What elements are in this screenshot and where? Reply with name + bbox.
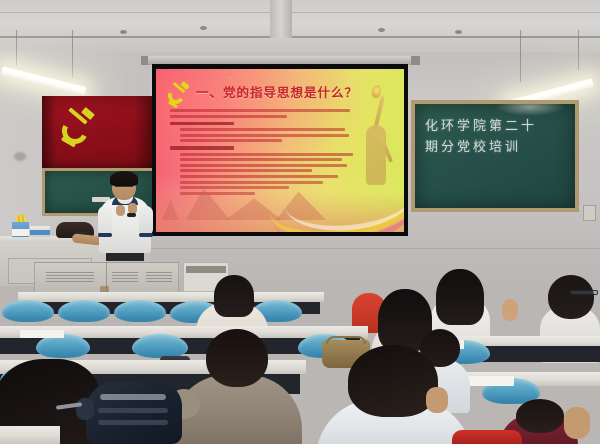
student-head (348, 345, 438, 417)
wall-panel-slot (186, 266, 226, 273)
ceiling-fixture-dot (378, 28, 385, 32)
presenter-wristwatch (127, 213, 136, 217)
classroom-photo: 一、党的指导思想是什么？ (0, 0, 600, 444)
blackboard-text-line-1: 化环学院第二十 (425, 115, 537, 134)
second-chalk-box-band (30, 230, 50, 235)
ceiling-fixture-dot (120, 30, 127, 34)
student-head (206, 329, 268, 387)
projection-screen: 一、党的指导思想是什么？ (152, 64, 408, 236)
lamp-wire (578, 30, 579, 70)
presenter-sleeve (98, 206, 112, 236)
ceiling (0, 0, 600, 58)
right-blackboard-surface: 化环学院第二十 期分党校培训 (415, 104, 575, 208)
presenter-cuff (139, 233, 153, 237)
backpack-strap (98, 420, 168, 425)
seat-cushion (132, 334, 188, 358)
screen-roller-end (411, 56, 420, 65)
presenter-glasses (115, 186, 133, 190)
lamp-wire (16, 30, 17, 66)
lamp-wire (520, 30, 521, 82)
seat-cushion (2, 300, 54, 322)
student-head (516, 399, 564, 433)
ceiling-duct (270, 0, 292, 38)
handbag-strap (326, 336, 366, 344)
wall-smudge (14, 152, 26, 161)
wall-outlet (583, 205, 596, 221)
cabinet-vent (46, 270, 94, 282)
slide-hammer-and-sickle-icon (167, 83, 193, 109)
slide-title: 一、党的指导思想是什么？ (196, 82, 358, 101)
blackboard-text-line-2: 期分党校培训 (425, 136, 521, 155)
student-head (548, 275, 594, 319)
communist-party-flag (42, 96, 154, 174)
backpack-strap (98, 408, 168, 413)
ceiling-seam-upper (0, 12, 600, 13)
ceiling-seam (0, 36, 600, 38)
student-hair (214, 275, 254, 317)
notebook (20, 330, 64, 338)
right-blackboard: 化环学院第二十 期分党校培训 (411, 100, 579, 212)
red-jacket (452, 430, 522, 444)
student-raised-arm (502, 299, 518, 321)
ceiling-fixture-dot (455, 30, 462, 34)
hammer-and-sickle-icon (60, 110, 100, 150)
chalk-box-label (12, 229, 29, 236)
seat-cushion (58, 300, 110, 322)
presenter-hair (110, 171, 138, 186)
cabinet-vent (112, 270, 138, 282)
student-glasses (570, 290, 598, 295)
seat-cushion (114, 300, 166, 322)
lamp-wire (72, 30, 73, 78)
desk-row-1 (0, 426, 60, 444)
student-hand (564, 407, 590, 439)
presenter-sleeve (139, 206, 153, 236)
ceiling-fixture-dot (200, 26, 207, 30)
cabinet-vent (146, 270, 172, 282)
presenter-hand (116, 205, 125, 216)
projected-slide: 一、党的指导思想是什么？ (156, 69, 404, 232)
backpack (86, 382, 182, 444)
presenter-cuff (98, 233, 112, 237)
student-hair (436, 269, 484, 325)
student-ear-neck (426, 387, 448, 413)
backpack-logo (100, 394, 166, 400)
backpack-side-pocket (76, 398, 94, 420)
